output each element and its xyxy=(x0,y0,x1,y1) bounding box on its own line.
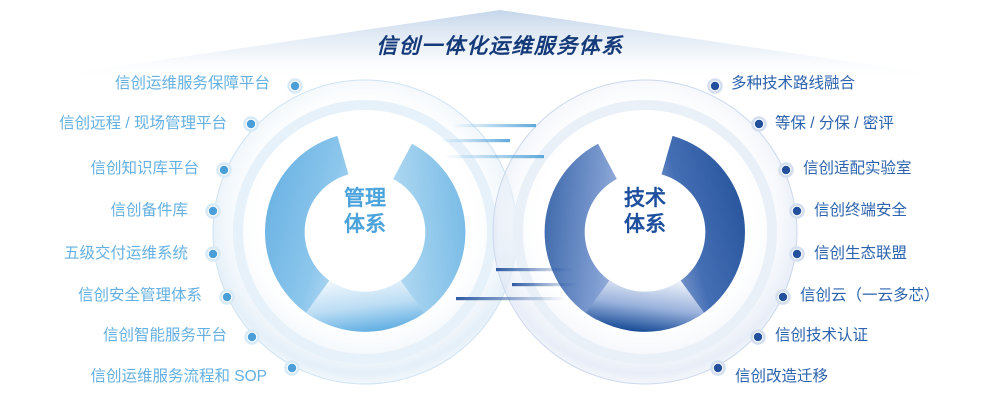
right-node-dot xyxy=(709,80,722,93)
infographic-canvas: 信创一体化运维服务体系 管理 体系 技术 体系 信创运维服务保障平台 信创远程 … xyxy=(0,0,1000,408)
left-capability-label-8[interactable]: 信创运维服务流程和 SOP xyxy=(90,369,267,385)
right-capability-label-2[interactable]: 等保 / 分保 / 密评 xyxy=(775,116,894,132)
left-capability-label-1[interactable]: 信创运维服务保障平台 xyxy=(115,76,270,92)
left-node-dot xyxy=(207,248,220,261)
right-node-dot xyxy=(712,362,725,375)
left-ring-title-line1: 管理 xyxy=(295,186,435,212)
left-node-dot xyxy=(246,331,259,344)
right-node-dot xyxy=(791,205,804,218)
right-capability-label-3[interactable]: 信创适配实验室 xyxy=(803,161,912,177)
left-capability-label-5[interactable]: 五级交付运维系统 xyxy=(64,246,188,262)
right-capability-label-4[interactable]: 信创终端安全 xyxy=(814,203,907,219)
right-ring-title: 技术 体系 xyxy=(575,186,715,239)
left-node-dot xyxy=(221,291,234,304)
right-node-dot xyxy=(752,331,765,344)
left-ring-title-line2: 体系 xyxy=(295,212,435,238)
page-title: 信创一体化运维服务体系 xyxy=(0,30,1000,60)
right-node-dot xyxy=(753,118,766,131)
left-node-dot xyxy=(286,362,299,375)
left-node-dot xyxy=(289,80,302,93)
right-capability-label-5[interactable]: 信创生态联盟 xyxy=(814,246,907,262)
right-ring-title-line1: 技术 xyxy=(575,186,715,212)
right-node-dot xyxy=(780,164,793,177)
right-node-dot xyxy=(791,248,804,261)
right-capability-label-8[interactable]: 信创改造迁移 xyxy=(735,369,828,385)
left-node-dot xyxy=(245,118,258,131)
right-node-dot xyxy=(777,291,790,304)
left-capability-label-4[interactable]: 信创备件库 xyxy=(110,203,188,219)
right-capability-label-6[interactable]: 信创云（一云多芯） xyxy=(800,288,940,304)
left-capability-label-2[interactable]: 信创远程 / 现场管理平台 xyxy=(59,116,227,132)
left-node-dot xyxy=(218,164,231,177)
left-node-dot xyxy=(207,205,220,218)
left-capability-label-3[interactable]: 信创知识库平台 xyxy=(90,161,199,177)
right-capability-label-7[interactable]: 信创技术认证 xyxy=(775,328,868,344)
left-capability-label-6[interactable]: 信创安全管理体系 xyxy=(78,288,202,304)
right-ring-title-line2: 体系 xyxy=(575,212,715,238)
left-capability-label-7[interactable]: 信创智能服务平台 xyxy=(103,328,227,344)
right-capability-label-1[interactable]: 多种技术路线融合 xyxy=(731,76,855,92)
left-ring-title: 管理 体系 xyxy=(295,186,435,239)
